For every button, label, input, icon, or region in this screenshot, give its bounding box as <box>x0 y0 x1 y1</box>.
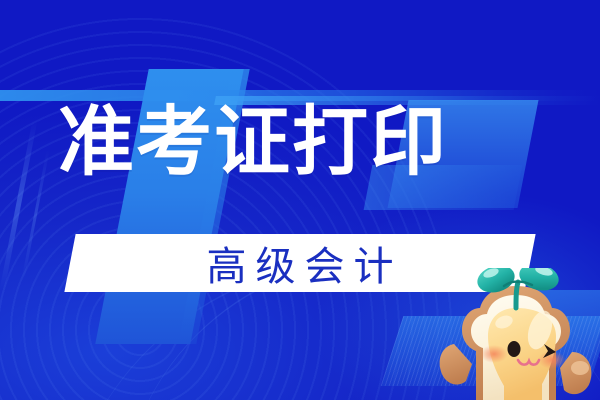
page-title: 准考证打印 <box>58 104 448 180</box>
mascot-left-arm <box>440 344 472 385</box>
mascot-sprout-stem <box>516 282 518 308</box>
mascot-eye-open <box>508 341 521 357</box>
exam-admission-ticket-poster: 准考证打印 高级会计 <box>0 0 600 400</box>
mascot-blush-left <box>480 345 508 363</box>
bread-sprout-mascot <box>432 268 600 400</box>
